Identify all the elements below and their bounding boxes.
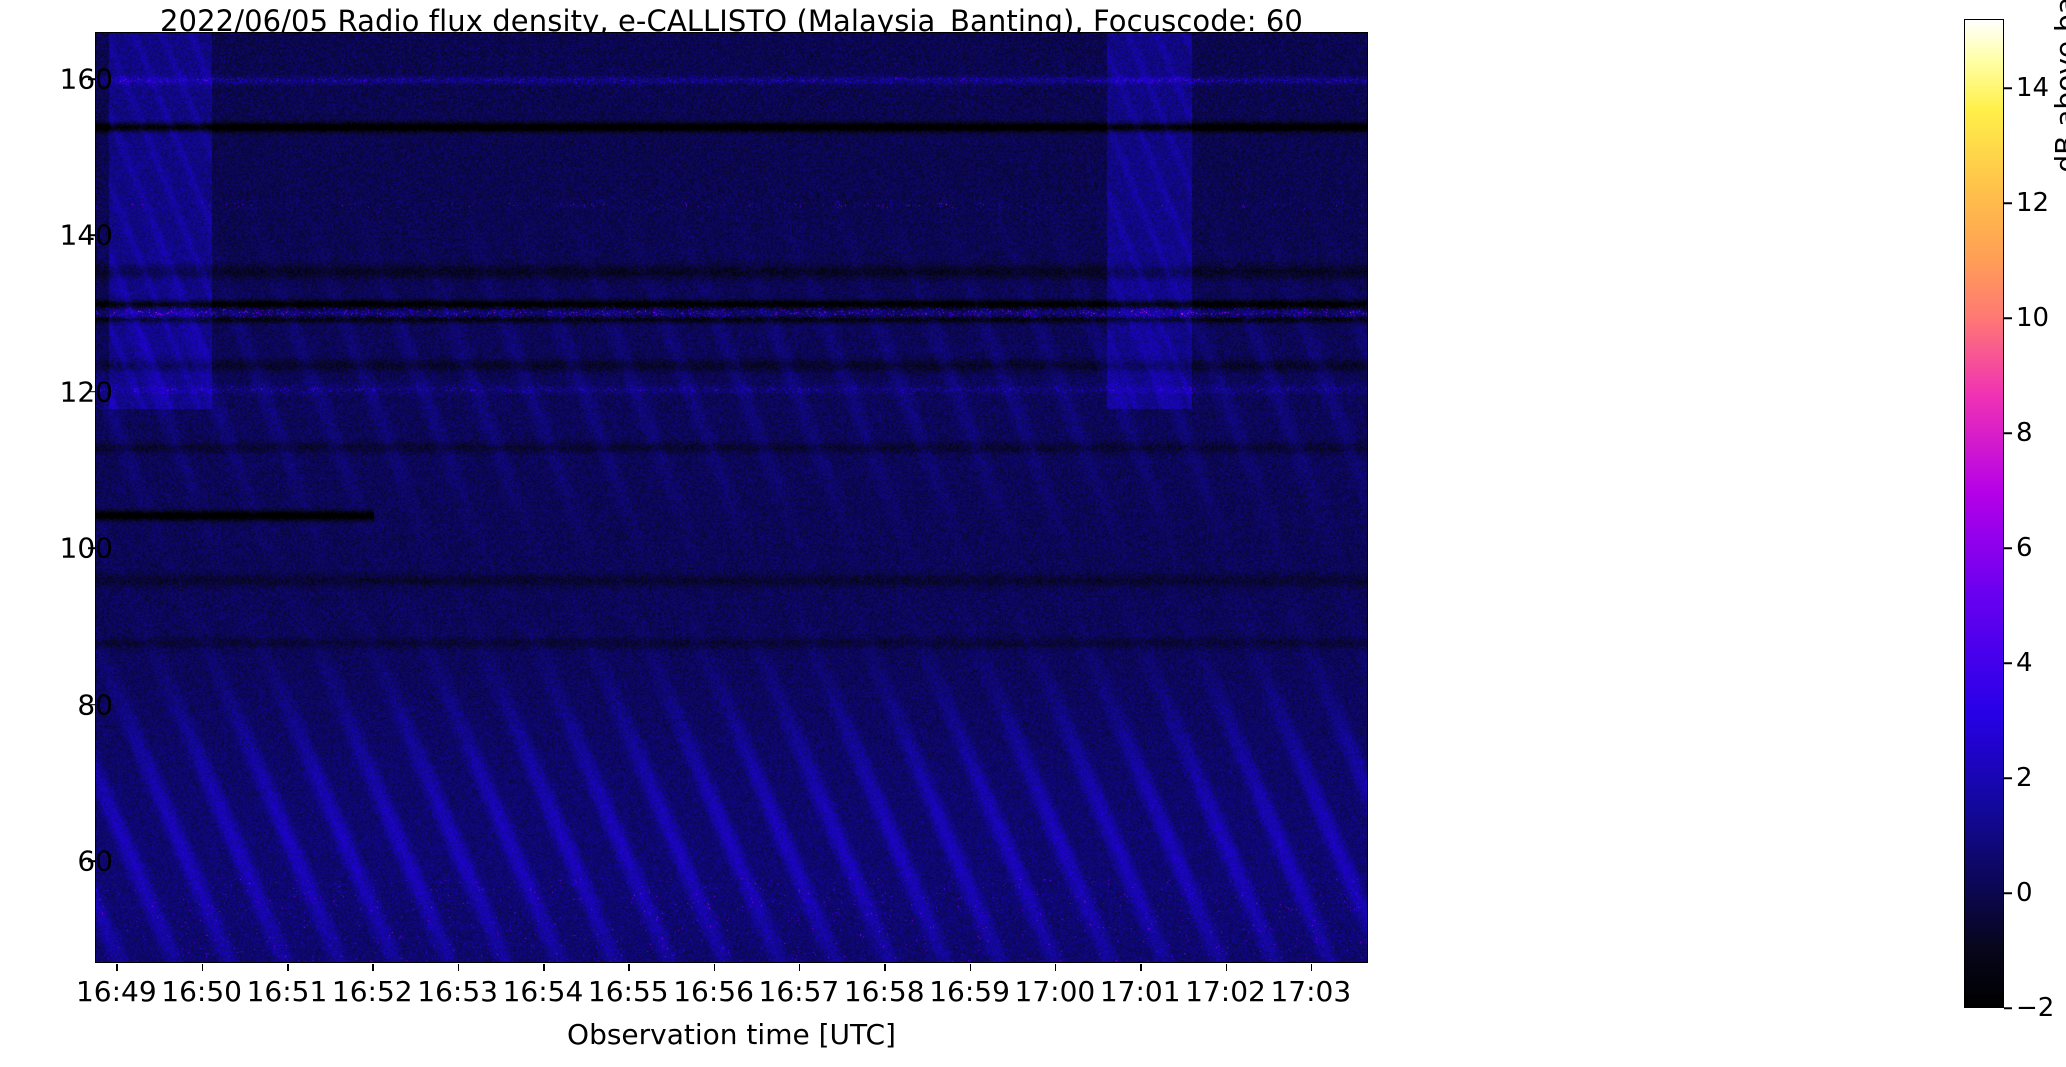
colorbar-tick-label: 6 (2016, 533, 2033, 563)
x-tick-label: 16:57 (759, 975, 840, 1008)
x-tick-mark (884, 964, 886, 971)
colorbar-tick-label: 8 (2016, 418, 2033, 448)
colorbar-tick-label: 14 (2016, 73, 2049, 103)
x-tick-label: 16:59 (929, 975, 1010, 1008)
x-tick-label: 16:56 (673, 975, 754, 1008)
y-tick-mark (88, 704, 95, 706)
x-tick-mark (1226, 964, 1228, 971)
x-tick-label: 16:49 (76, 975, 157, 1008)
colorbar-tick-mark (2004, 662, 2012, 664)
spectrogram-plot (95, 32, 1368, 963)
colorbar-tick-mark (2004, 777, 2012, 779)
colorbar (1964, 19, 2004, 1008)
y-tick-label: 60 (77, 845, 113, 878)
colorbar-tick-label: 12 (2016, 188, 2049, 218)
x-tick-label: 17:03 (1270, 975, 1351, 1008)
colorbar-tick-mark (2004, 547, 2012, 549)
colorbar-tick-label: 10 (2016, 303, 2049, 333)
y-tick-label: 140 (60, 219, 113, 252)
colorbar-tick-mark (2004, 317, 2012, 319)
x-tick-mark (458, 964, 460, 971)
colorbar-tick-mark (2004, 87, 2012, 89)
y-tick-label: 120 (60, 375, 113, 408)
x-tick-label: 16:55 (588, 975, 669, 1008)
y-tick-mark (88, 235, 95, 237)
x-tick-label: 16:52 (332, 975, 413, 1008)
colorbar-tick-mark (2004, 892, 2012, 894)
y-tick-mark (88, 860, 95, 862)
colorbar-tick-mark (2004, 202, 2012, 204)
y-tick-mark (88, 548, 95, 550)
x-axis-label: Observation time [UTC] (95, 1018, 1368, 1051)
colorbar-tick-mark (2004, 1007, 2012, 1009)
x-tick-mark (1055, 964, 1057, 971)
colorbar-tick-mark (2004, 432, 2012, 434)
x-tick-mark (799, 964, 801, 971)
colorbar-tick-label: −2 (2016, 993, 2054, 1023)
colorbar-label: dB above background (2049, 0, 2066, 514)
x-tick-mark (628, 964, 630, 971)
x-tick-label: 17:01 (1100, 975, 1181, 1008)
x-tick-label: 16:54 (503, 975, 584, 1008)
x-tick-mark (372, 964, 374, 971)
y-tick-mark (88, 391, 95, 393)
x-tick-mark (1140, 964, 1142, 971)
y-tick-mark (88, 78, 95, 80)
x-tick-mark (202, 964, 204, 971)
x-tick-mark (116, 964, 118, 971)
x-tick-label: 17:00 (1015, 975, 1096, 1008)
spectrogram-canvas (96, 33, 1368, 963)
x-tick-label: 16:53 (417, 975, 498, 1008)
x-tick-label: 17:02 (1185, 975, 1266, 1008)
y-tick-label: 100 (60, 532, 113, 565)
y-tick-label: 80 (77, 688, 113, 721)
x-tick-mark (287, 964, 289, 971)
x-tick-mark (970, 964, 972, 971)
x-tick-label: 16:51 (247, 975, 328, 1008)
colorbar-tick-label: 0 (2016, 878, 2033, 908)
x-tick-label: 16:50 (161, 975, 242, 1008)
x-tick-label: 16:58 (844, 975, 925, 1008)
y-tick-label: 160 (60, 62, 113, 95)
x-tick-mark (714, 964, 716, 971)
x-tick-mark (543, 964, 545, 971)
colorbar-tick-label: 2 (2016, 763, 2033, 793)
colorbar-tick-label: 4 (2016, 648, 2033, 678)
x-tick-mark (1311, 964, 1313, 971)
